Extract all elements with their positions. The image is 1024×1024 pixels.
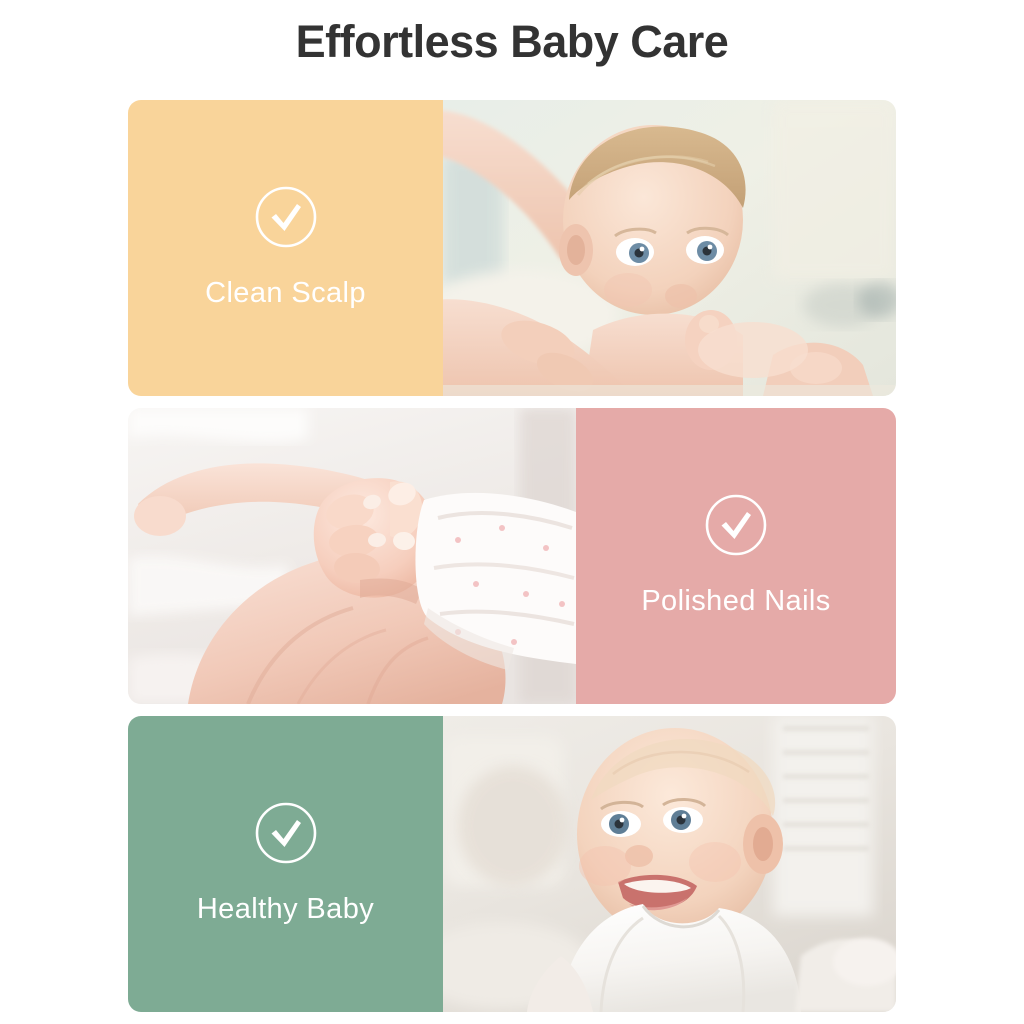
feature-photo-healthy-baby — [443, 716, 896, 1012]
check-circle-icon — [705, 494, 767, 556]
feature-label-healthy-baby: Healthy Baby — [197, 892, 374, 926]
feature-card-clean-scalp[interactable]: Clean Scalp — [128, 100, 896, 396]
feature-panel-healthy-baby: Healthy Baby — [128, 716, 443, 1012]
feature-graphic: Effortless Baby Care Clean Scalp — [0, 0, 1024, 1024]
baby-bath-photo — [443, 100, 896, 396]
feature-card-healthy-baby[interactable]: Healthy Baby — [128, 716, 896, 1012]
page-title: Effortless Baby Care — [0, 12, 1024, 72]
check-circle-icon — [255, 186, 317, 248]
check-circle-icon — [255, 802, 317, 864]
baby-hand-photo — [128, 408, 576, 704]
feature-label-clean-scalp: Clean Scalp — [205, 276, 366, 310]
smiling-baby-photo — [443, 716, 896, 1012]
feature-photo-polished-nails — [128, 408, 576, 704]
feature-photo-clean-scalp — [443, 100, 896, 396]
feature-label-polished-nails: Polished Nails — [641, 584, 830, 618]
feature-panel-clean-scalp: Clean Scalp — [128, 100, 443, 396]
feature-panel-polished-nails: Polished Nails — [576, 408, 896, 704]
feature-card-list: Clean Scalp — [128, 100, 896, 1024]
feature-card-polished-nails[interactable]: Polished Nails — [128, 408, 896, 704]
